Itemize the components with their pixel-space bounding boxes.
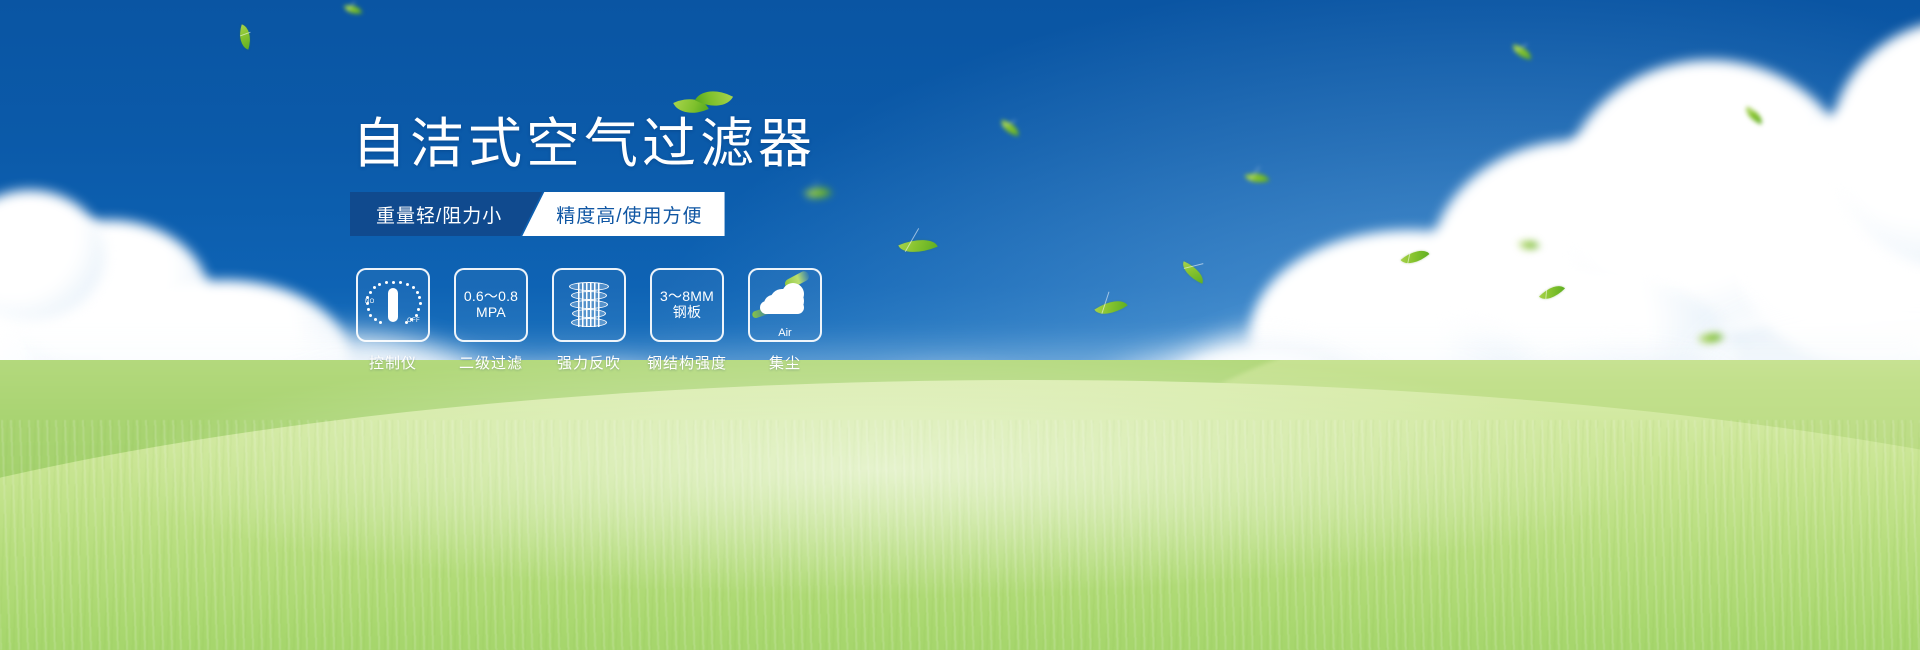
gauge-icon: NO OFF: [365, 279, 421, 331]
feature-item-dust-collection[interactable]: Air 集尘: [750, 268, 820, 373]
gauge-label-off: OFF: [407, 318, 420, 325]
pressure-value-line1: 0.6～0.8: [464, 289, 518, 305]
air-label: Air: [758, 327, 812, 339]
feature-icon-box: NO OFF: [356, 268, 430, 342]
feature-icon-row: NO OFF 控制仪 0.6～0.8 MPA 二级过滤: [358, 268, 820, 373]
feature-item-controller[interactable]: NO OFF 控制仪: [358, 268, 428, 373]
feature-label: 钢结构强度: [647, 352, 727, 373]
feature-icon-box: 0.6～0.8 MPA: [454, 268, 528, 342]
air-cloud-icon: Air: [758, 283, 812, 327]
steel-value-line1: 3～8MM: [660, 289, 714, 305]
gauge-label-no: NO: [365, 299, 375, 306]
banner-content: 自洁式空气过滤器 重量轻/阻力小 精度高/使用方便: [0, 0, 1920, 650]
page-title: 自洁式空气过滤器: [352, 112, 816, 176]
tagline-pill-secondary[interactable]: 精度高/使用方便: [522, 192, 724, 236]
feature-icon-box: Air: [748, 268, 822, 342]
feature-icon-box: [552, 268, 626, 342]
hero-banner: 自洁式空气过滤器 重量轻/阻力小 精度高/使用方便: [0, 0, 1920, 650]
pressure-value-line2: MPA: [476, 305, 506, 321]
steel-value-line2: 钢板: [673, 305, 701, 321]
feature-item-steel-strength[interactable]: 3～8MM 钢板 钢结构强度: [652, 268, 722, 373]
tagline-pill-group: 重量轻/阻力小 精度高/使用方便: [350, 192, 725, 236]
feature-label: 控制仪: [369, 352, 417, 373]
feature-item-filtration[interactable]: 0.6～0.8 MPA 二级过滤: [456, 268, 526, 373]
feature-label: 二级过滤: [459, 352, 523, 373]
feature-icon-box: 3～8MM 钢板: [650, 268, 724, 342]
feature-label: 强力反吹: [557, 352, 621, 373]
tagline-pill-primary[interactable]: 重量轻/阻力小: [350, 192, 542, 236]
coil-blowback-icon: [567, 281, 611, 329]
feature-item-blowback[interactable]: 强力反吹: [554, 268, 624, 373]
gauge-needle: [388, 288, 398, 322]
feature-label: 集尘: [769, 352, 801, 373]
